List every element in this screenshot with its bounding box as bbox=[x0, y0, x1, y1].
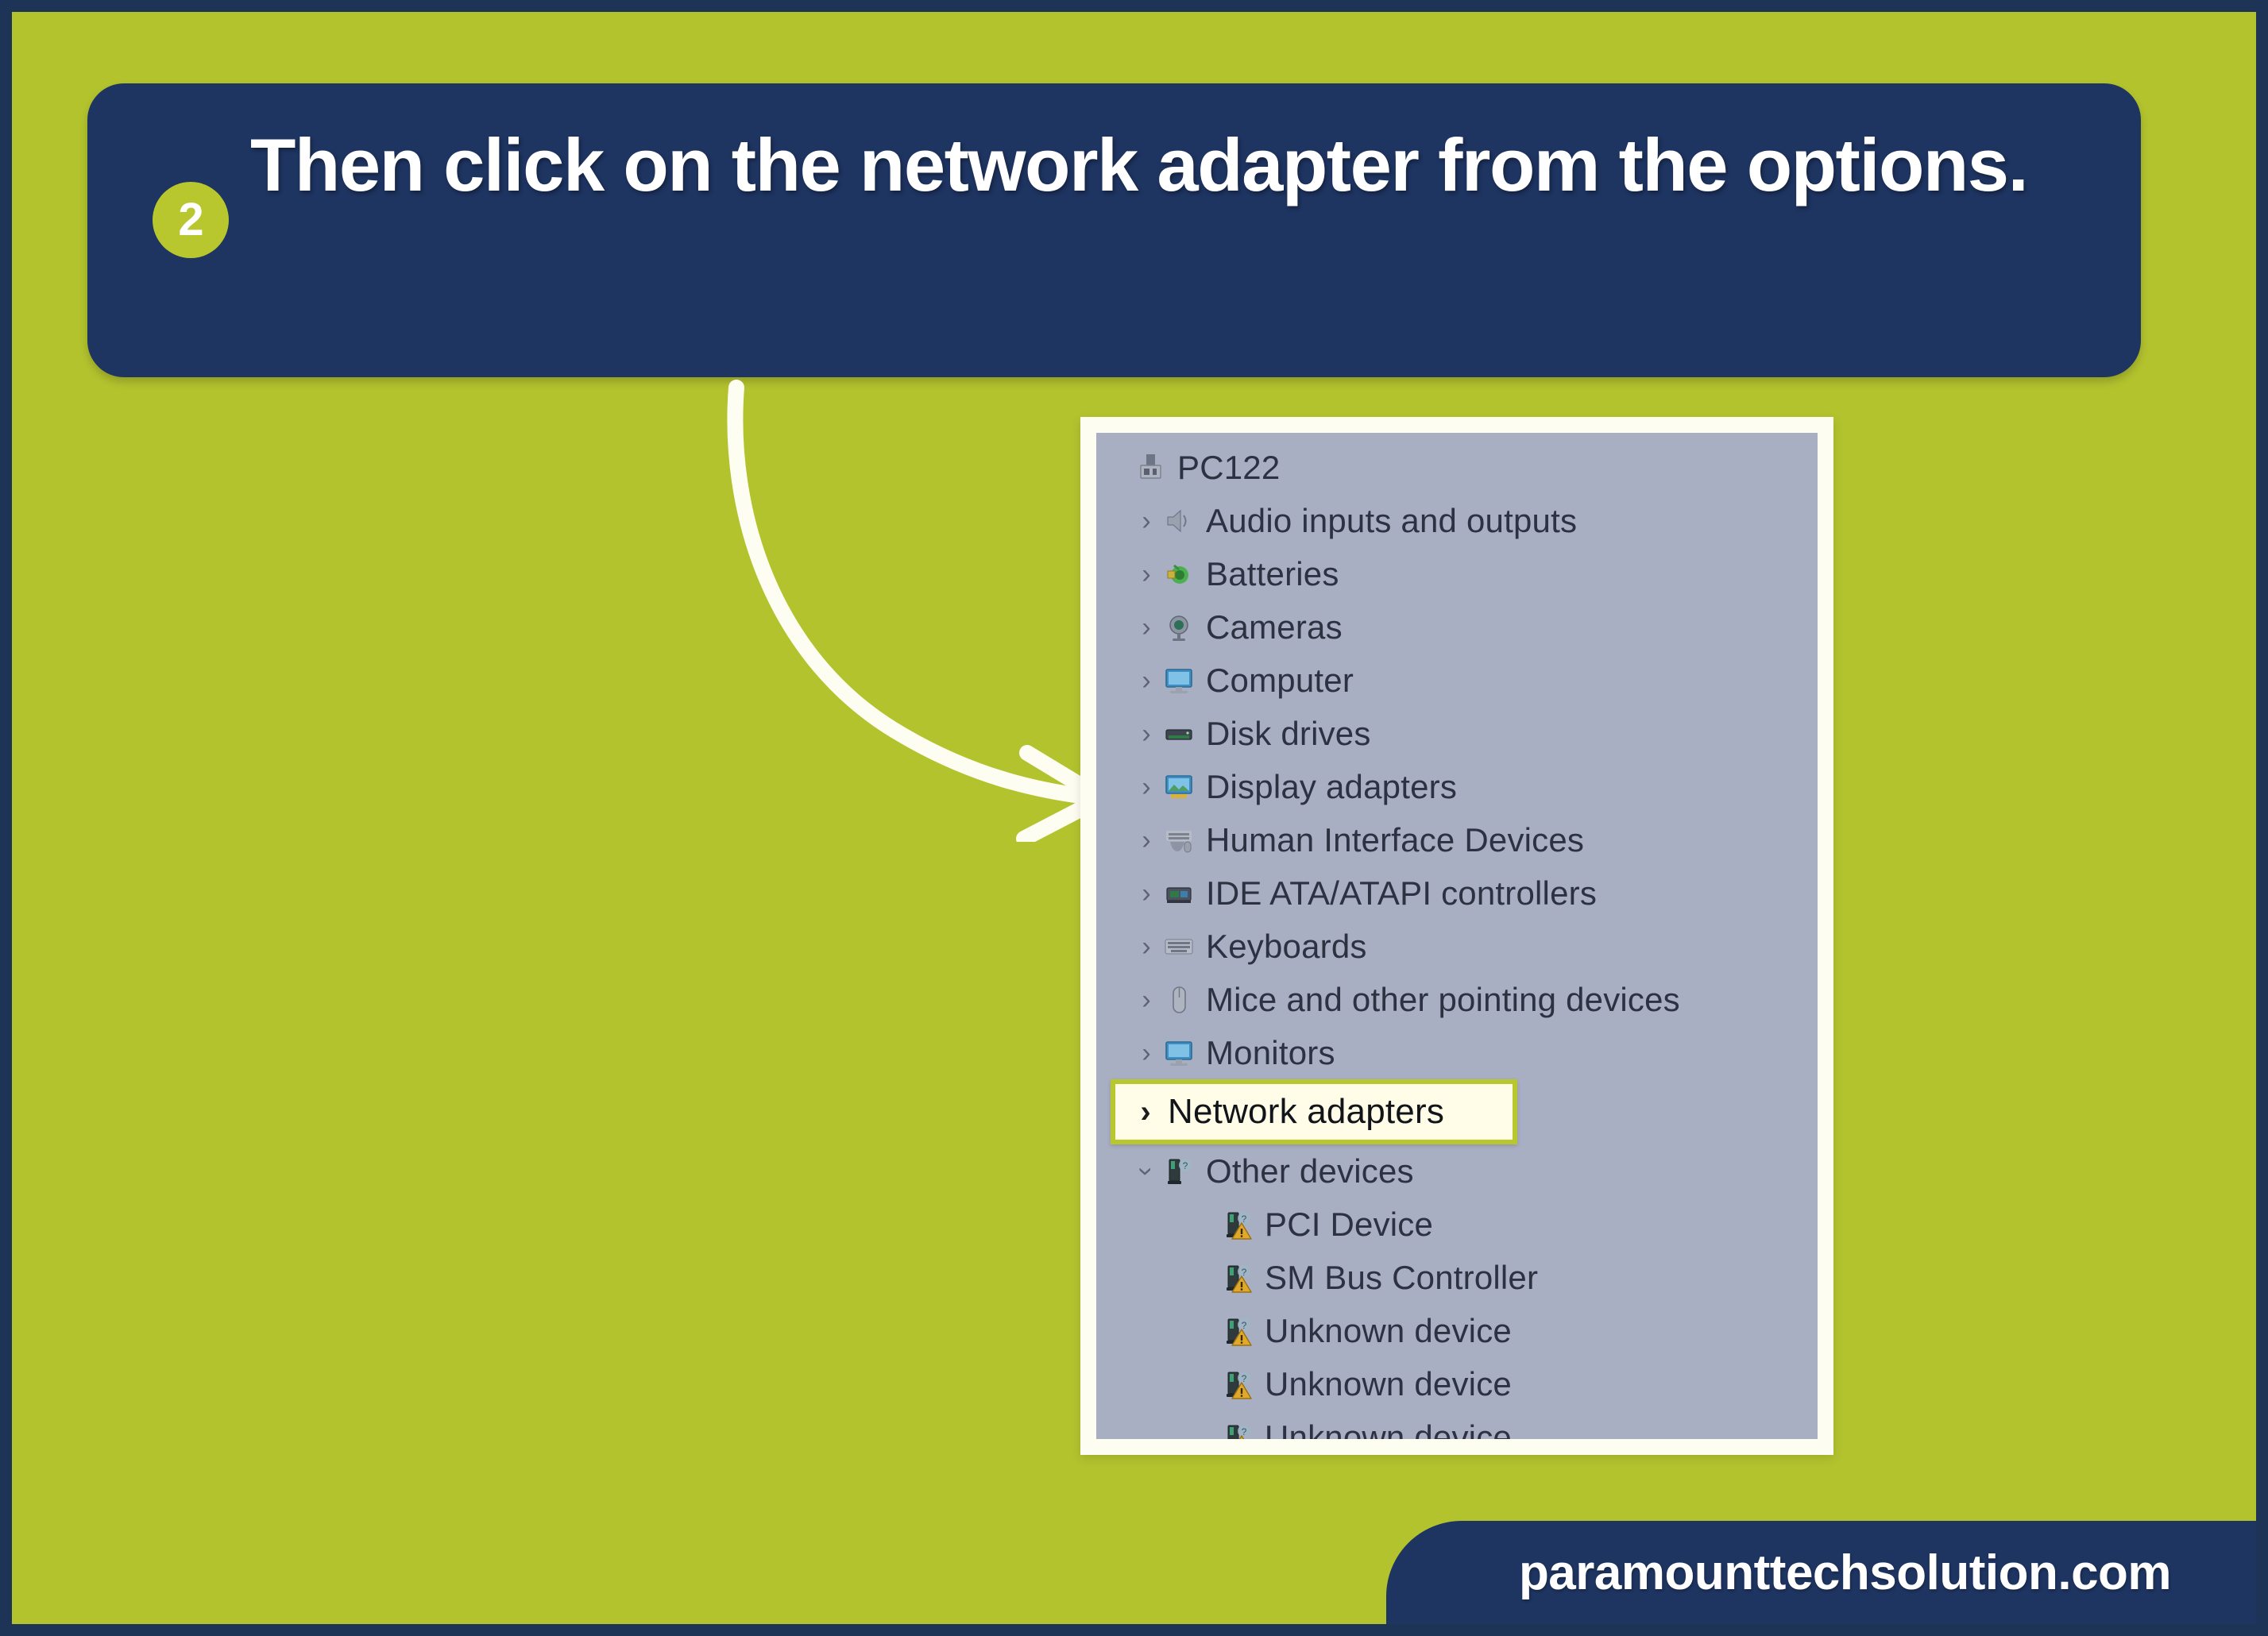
step-number-badge: 2 bbox=[153, 182, 229, 258]
chevron-right-icon: › bbox=[1190, 1371, 1220, 1398]
camera-icon bbox=[1161, 610, 1196, 645]
unknown-device-icon: ? bbox=[1220, 1260, 1255, 1295]
tree-row-cameras[interactable]: ›Cameras bbox=[1096, 600, 1818, 654]
disk-drive-icon bbox=[1161, 716, 1196, 751]
tree-row-mice-and-other-pointing-devices[interactable]: ›Mice and other pointing devices bbox=[1096, 973, 1818, 1026]
chevron-right-icon: › bbox=[1190, 1424, 1220, 1440]
tree-row-root[interactable]: › PC122 bbox=[1096, 441, 1818, 494]
keyboard-icon bbox=[1161, 929, 1196, 964]
unknown-device-icon: ? bbox=[1220, 1367, 1255, 1402]
device-tree-body: ›Audio inputs and outputs›Batteries›Came… bbox=[1096, 494, 1818, 1439]
instruction-text: Then click on the network adapter from t… bbox=[250, 114, 2101, 217]
computer-tower-icon bbox=[1133, 450, 1168, 485]
tree-row-pci-device[interactable]: ›?PCI Device bbox=[1096, 1198, 1818, 1251]
monitor-icon bbox=[1161, 663, 1196, 698]
chevron-right-icon[interactable]: › bbox=[1131, 720, 1161, 747]
tree-row-ide-ata-atapi-controllers[interactable]: ›IDE ATA/ATAPI controllers bbox=[1096, 866, 1818, 920]
chevron-right-icon[interactable]: › bbox=[1131, 880, 1161, 907]
tree-row-label: Mice and other pointing devices bbox=[1206, 981, 1680, 1019]
chevron-right-icon: › bbox=[1190, 1318, 1220, 1345]
tree-row-label: Disk drives bbox=[1206, 715, 1371, 753]
tree-row-label: Computer bbox=[1206, 662, 1354, 700]
tree-row-label: Unknown device bbox=[1265, 1418, 1512, 1440]
chevron-right-icon: › bbox=[1190, 1211, 1220, 1238]
chevron-right-icon[interactable]: › bbox=[1131, 1040, 1161, 1067]
unknown-device-icon: ? bbox=[1161, 1154, 1196, 1189]
chevron-right-icon[interactable]: › bbox=[1131, 774, 1161, 801]
tree-row-label: Unknown device bbox=[1265, 1365, 1512, 1403]
display-adapter-icon bbox=[1161, 770, 1196, 804]
step-number-label: 2 bbox=[178, 197, 203, 243]
tree-row-sm-bus-controller[interactable]: ›?SM Bus Controller bbox=[1096, 1251, 1818, 1304]
tree-row-label: Unknown device bbox=[1265, 1312, 1512, 1350]
tree-row-unknown-device[interactable]: ›?Unknown device bbox=[1096, 1410, 1818, 1439]
tree-row-disk-drives[interactable]: ›Disk drives bbox=[1096, 707, 1818, 760]
tree-row-keyboards[interactable]: ›Keyboards bbox=[1096, 920, 1818, 973]
tree-row-unknown-device[interactable]: ›?Unknown device bbox=[1096, 1304, 1818, 1357]
chevron-right-icon: › bbox=[1103, 454, 1133, 481]
tree-row-label: Display adapters bbox=[1206, 768, 1457, 806]
tree-row-label: Other devices bbox=[1206, 1152, 1414, 1190]
chevron-right-icon: › bbox=[1190, 1264, 1220, 1291]
device-tree[interactable]: › PC122 ›Audio inputs and outputs›Batter… bbox=[1096, 433, 1818, 1439]
tree-row-other-devices[interactable]: ›?Other devices bbox=[1096, 1144, 1818, 1198]
ide-controller-icon bbox=[1161, 876, 1196, 911]
hid-icon bbox=[1161, 823, 1196, 858]
tree-row-label: Human Interface Devices bbox=[1206, 821, 1584, 859]
tree-row-human-interface-devices[interactable]: ›Human Interface Devices bbox=[1096, 813, 1818, 866]
svg-text:?: ? bbox=[1183, 1160, 1188, 1171]
chevron-right-icon[interactable]: › bbox=[1131, 986, 1161, 1013]
tree-row-label: Cameras bbox=[1206, 608, 1343, 646]
monitor-icon bbox=[1161, 1036, 1196, 1071]
tree-row-label: SM Bus Controller bbox=[1265, 1259, 1538, 1297]
tree-row-audio-inputs-and-outputs[interactable]: ›Audio inputs and outputs bbox=[1096, 494, 1818, 547]
slide-canvas: 2 Then click on the network adapter from… bbox=[12, 12, 2256, 1624]
tree-row-label: IDE ATA/ATAPI controllers bbox=[1206, 874, 1597, 913]
tree-row-computer[interactable]: ›Computer bbox=[1096, 654, 1818, 707]
mouse-icon bbox=[1161, 982, 1196, 1017]
unknown-device-icon: ? bbox=[1220, 1420, 1255, 1440]
curved-arrow-icon bbox=[695, 373, 1140, 842]
chevron-down-icon[interactable]: › bbox=[1133, 1156, 1160, 1186]
site-watermark: paramounttechsolution.com bbox=[1386, 1521, 2256, 1624]
battery-icon bbox=[1161, 557, 1196, 592]
tree-row-label: PCI Device bbox=[1265, 1206, 1433, 1244]
chevron-right-icon[interactable]: › bbox=[1131, 933, 1161, 960]
chevron-right-icon[interactable]: › bbox=[1131, 561, 1161, 588]
tree-row-monitors[interactable]: ›Monitors bbox=[1096, 1026, 1818, 1079]
unknown-device-icon: ? bbox=[1220, 1207, 1255, 1242]
watermark-text: paramounttechsolution.com bbox=[1519, 1545, 2171, 1601]
tree-row-label: PC122 bbox=[1177, 449, 1280, 487]
tree-row-unknown-device[interactable]: ›?Unknown device bbox=[1096, 1357, 1818, 1410]
tree-row-network-adapters[interactable]: ›Network adapters bbox=[1111, 1079, 1517, 1144]
chevron-right-icon[interactable]: › bbox=[1123, 1096, 1168, 1128]
device-manager-panel: › PC122 ›Audio inputs and outputs›Batter… bbox=[1080, 417, 1833, 1455]
tree-row-batteries[interactable]: ›Batteries bbox=[1096, 547, 1818, 600]
chevron-right-icon[interactable]: › bbox=[1131, 667, 1161, 694]
chevron-right-icon[interactable]: › bbox=[1131, 507, 1161, 534]
instruction-banner: 2 Then click on the network adapter from… bbox=[87, 83, 2141, 377]
chevron-right-icon[interactable]: › bbox=[1131, 614, 1161, 641]
tree-row-label: Network adapters bbox=[1168, 1092, 1444, 1132]
tree-row-label: Keyboards bbox=[1206, 928, 1367, 966]
tree-row-display-adapters[interactable]: ›Display adapters bbox=[1096, 760, 1818, 813]
unknown-device-icon: ? bbox=[1220, 1314, 1255, 1349]
tree-row-label: Batteries bbox=[1206, 555, 1339, 593]
tree-row-label: Audio inputs and outputs bbox=[1206, 502, 1577, 540]
chevron-right-icon[interactable]: › bbox=[1131, 827, 1161, 854]
tree-row-label: Monitors bbox=[1206, 1034, 1335, 1072]
speaker-icon bbox=[1161, 504, 1196, 538]
